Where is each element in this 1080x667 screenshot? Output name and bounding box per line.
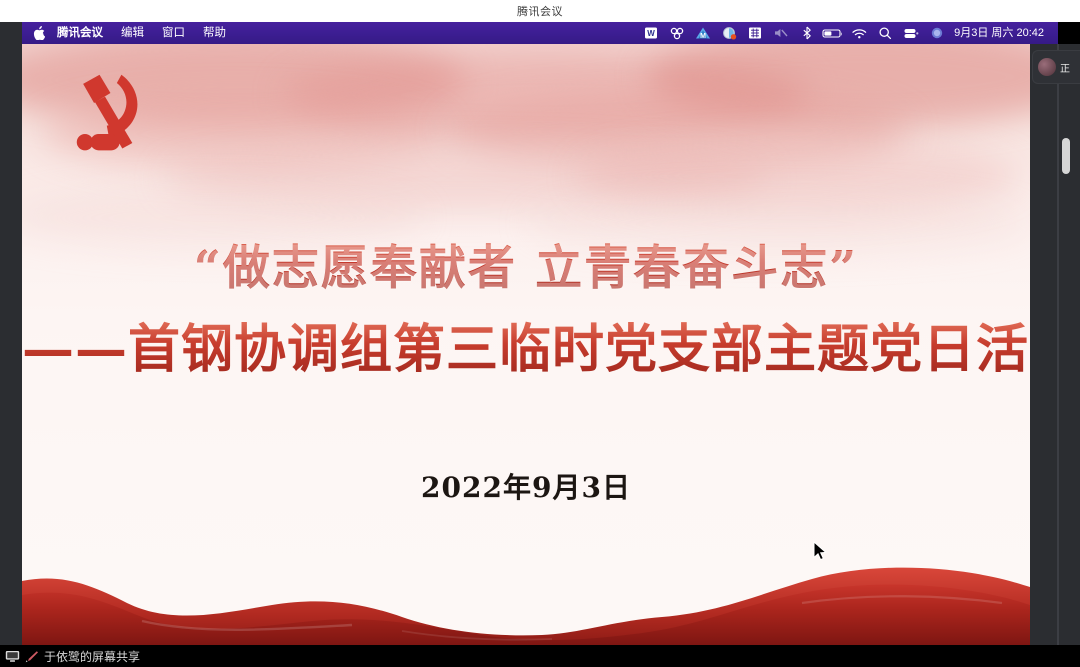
- red-silk-wave-decoration: [22, 529, 1030, 645]
- slide-title-group: “做志愿奉献者 立青春奋斗志” ——首钢协调组第三临时党支部主题党日活动: [22, 240, 1030, 381]
- spotlight-search-icon[interactable]: [872, 22, 898, 44]
- screen-share-icon: [4, 648, 20, 664]
- window-titlebar: 腾讯会议: [0, 0, 1080, 22]
- window-frame-left: [0, 22, 22, 667]
- menu-item-help[interactable]: 帮助: [194, 22, 235, 44]
- svg-text:W: W: [647, 29, 655, 38]
- cluster-icon[interactable]: [664, 22, 690, 44]
- bluetooth-icon[interactable]: [794, 22, 820, 44]
- battery-icon[interactable]: [820, 22, 846, 44]
- control-center-icon[interactable]: [898, 22, 924, 44]
- wps-icon[interactable]: W: [638, 22, 664, 44]
- screen-share-label: 于依鹭的屏幕共享: [44, 648, 140, 665]
- slide-title-main: “做志愿奉献者 立青春奋斗志”: [22, 240, 1030, 299]
- participant-thumbnail[interactable]: 正: [1032, 50, 1080, 84]
- mountain-m-icon[interactable]: M: [690, 22, 716, 44]
- screen: 腾讯会议 腾讯会议 编辑 窗口 帮助 W: [0, 0, 1080, 667]
- shared-screen-slide[interactable]: “做志愿奉献者 立青春奋斗志” ——首钢协调组第三临时党支部主题党日活动 202…: [22, 44, 1030, 645]
- annotate-icon: [24, 648, 40, 664]
- slide-date: 2022年9月3日: [22, 466, 1030, 506]
- menu-bar-clock[interactable]: 9月3日 周六 20:42: [950, 22, 1052, 44]
- menu-bar: 腾讯会议 编辑 窗口 帮助 W: [22, 22, 1058, 44]
- participant-name: 正: [1060, 60, 1070, 75]
- menu-bar-tray: W M: [638, 22, 1052, 44]
- participant-avatar: [1038, 58, 1056, 76]
- cpc-party-emblem-icon: [50, 62, 160, 164]
- slide-title-sub: ——首钢协调组第三临时党支部主题党日活动: [22, 319, 1030, 381]
- window-title: 腾讯会议: [517, 3, 563, 19]
- window-frame-right: [1030, 44, 1080, 667]
- side-panel-divider: [1057, 44, 1059, 667]
- svg-text:M: M: [700, 33, 706, 40]
- volume-muted-icon[interactable]: [768, 22, 794, 44]
- menu-item-window[interactable]: 窗口: [153, 22, 194, 44]
- menu-bar-left: 腾讯会议 编辑 窗口 帮助: [30, 22, 235, 44]
- wifi-icon[interactable]: [846, 22, 872, 44]
- apple-icon[interactable]: [30, 22, 48, 44]
- siri-icon[interactable]: [924, 22, 950, 44]
- input-method-icon[interactable]: [742, 22, 768, 44]
- screen-share-status-bar: 于依鹭的屏幕共享: [0, 645, 1080, 667]
- menu-item-app[interactable]: 腾讯会议: [48, 22, 112, 44]
- side-panel-collapse-handle[interactable]: [1062, 138, 1070, 174]
- record-circle-icon[interactable]: [716, 22, 742, 44]
- menu-item-edit[interactable]: 编辑: [112, 22, 153, 44]
